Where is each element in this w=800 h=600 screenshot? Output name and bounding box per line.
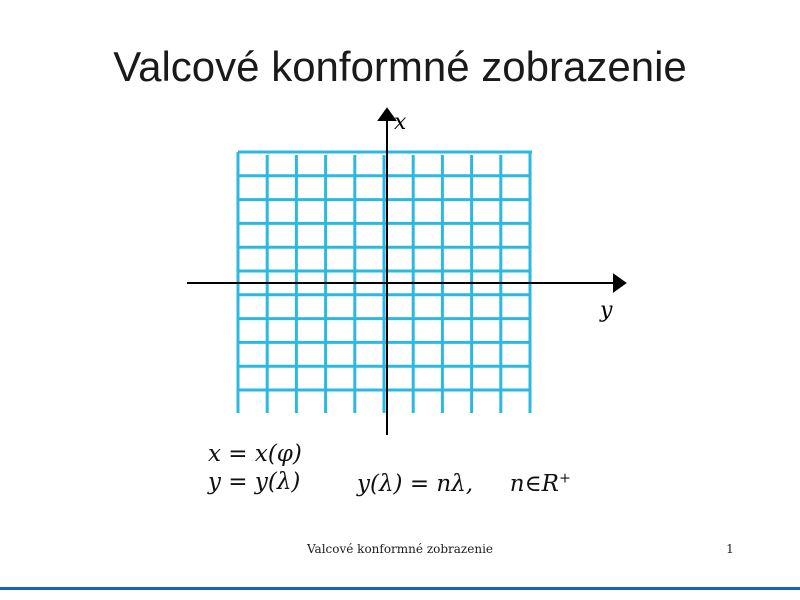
formula-line-x: x = x(φ) — [208, 440, 302, 468]
slide-canvas: Valcové konformné zobrazenie — [0, 0, 800, 600]
page-title: Valcové konformné zobrazenie — [0, 44, 800, 90]
formula-set-r: R — [542, 471, 559, 497]
footer-divider — [0, 587, 800, 590]
formula-superscript-plus: + — [559, 470, 571, 486]
grid-horizontal-lines — [238, 152, 532, 390]
formula-block-projection-equations: x = x(φ) y = y(λ) — [208, 440, 302, 496]
formula-n-variable: n — [510, 471, 525, 497]
grid-vertical-lines — [238, 152, 530, 413]
footer-page-number: 1 — [700, 542, 760, 556]
axis-lines — [187, 118, 616, 435]
x-axis-label: x — [394, 112, 406, 134]
footer-title: Valcové konformné zobrazenie — [0, 542, 800, 556]
formula-element-of-icon: ∈ — [525, 471, 542, 497]
formula-line-y: y = y(λ) — [208, 468, 302, 496]
formula-block-lambda-relation: y(λ) = nλ, n∈R+ — [357, 470, 571, 498]
y-axis-label: y — [600, 300, 612, 322]
formula-lambda-lhs: y(λ) = nλ, — [357, 471, 473, 497]
